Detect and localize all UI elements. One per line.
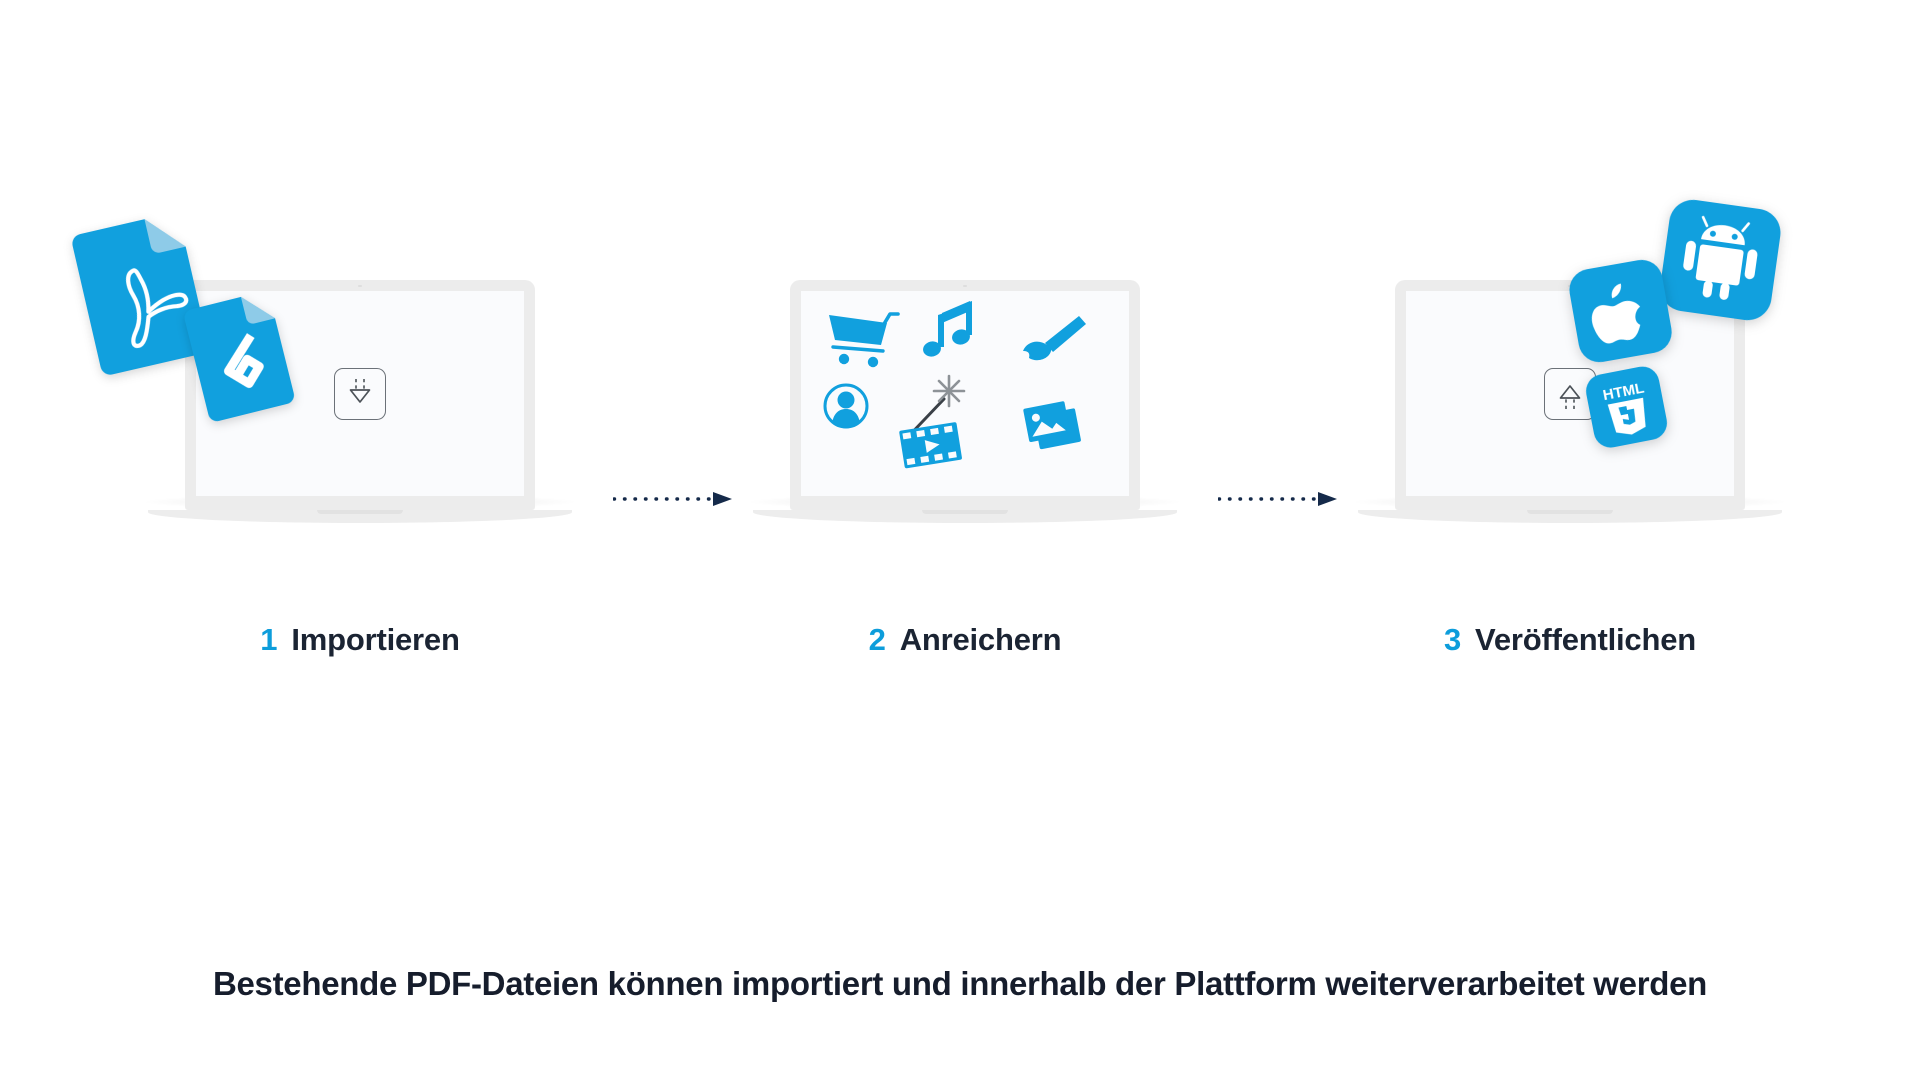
arrow-step1-to-step2 — [613, 492, 733, 506]
step-publish-number: 3 — [1444, 622, 1461, 657]
laptop-lid — [790, 280, 1140, 510]
music-note-icon — [922, 301, 972, 358]
step-publish-caption: 3Veröffentlichen — [1310, 622, 1830, 658]
laptop-screen — [801, 291, 1129, 496]
paintbrush-icon — [1023, 316, 1086, 360]
film-clip-icon — [899, 422, 962, 469]
step-publish-label: Veröffentlichen — [1475, 622, 1696, 657]
laptop-base — [1358, 510, 1782, 523]
step-enrich-caption: 2Anreichern — [705, 622, 1225, 658]
shopping-cart-icon — [829, 314, 898, 367]
page-headline: Bestehende PDF-Dateien können importiert… — [0, 965, 1920, 1003]
html5-icon: HTML — [1581, 361, 1673, 457]
steps-row: 1Importieren — [0, 0, 1920, 760]
laptop-screen — [1406, 291, 1734, 496]
download-icon — [334, 368, 386, 420]
step-enrich-label: Anreichern — [900, 622, 1062, 657]
image-stack-icon — [1023, 399, 1081, 451]
laptop-enrich — [790, 280, 1140, 523]
laptop-base — [753, 510, 1177, 523]
enrich-icons — [801, 291, 1129, 496]
step-import: 1Importieren — [100, 240, 620, 658]
step-import-caption: 1Importieren — [100, 622, 620, 658]
slide-canvas: 1Importieren — [0, 0, 1920, 1080]
arrow-step2-to-step3 — [1218, 492, 1338, 506]
step-publish: HTML 3Veröffentlichen — [1310, 240, 1830, 658]
step-import-number: 1 — [260, 622, 277, 657]
step-enrich: 2Anreichern — [705, 240, 1225, 658]
apple-icon — [1564, 254, 1678, 372]
user-avatar-icon — [825, 385, 867, 428]
step-enrich-number: 2 — [869, 622, 886, 657]
android-icon — [1654, 195, 1786, 331]
step-publish-illustration: HTML — [1310, 240, 1830, 600]
step-import-illustration — [100, 240, 620, 600]
laptop-base — [148, 510, 572, 523]
step-enrich-illustration — [705, 240, 1225, 600]
step-import-label: Importieren — [291, 622, 459, 657]
